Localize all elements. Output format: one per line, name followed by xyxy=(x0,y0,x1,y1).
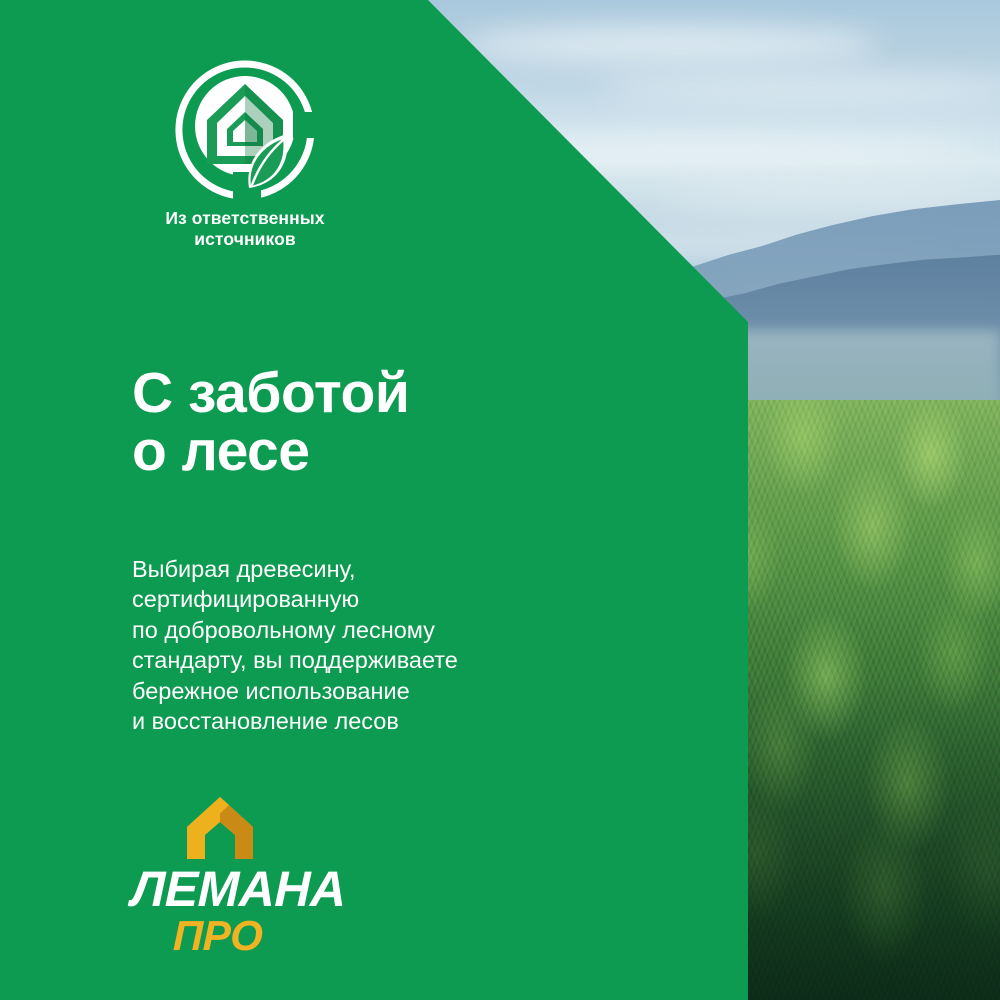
poster-content: Из ответственных источников С заботой о … xyxy=(0,0,748,1000)
brand-lockup: ЛЕМАНА ПРО xyxy=(131,795,381,956)
page-title: С заботой о лесе xyxy=(132,364,692,480)
brand-name: ЛЕМАНА xyxy=(131,865,382,914)
house-leaf-circle-emblem xyxy=(175,60,315,200)
responsible-sourcing-caption: Из ответственных источников xyxy=(130,208,360,251)
body-paragraph: Выбирая древесину, сертифицированную по … xyxy=(132,554,712,737)
responsible-sourcing-mark: Из ответственных источников xyxy=(130,60,360,251)
brand-sub-name: ПРО xyxy=(173,915,382,956)
lemana-house-icon xyxy=(185,795,255,861)
promo-poster: Из ответственных источников С заботой о … xyxy=(0,0,1000,1000)
